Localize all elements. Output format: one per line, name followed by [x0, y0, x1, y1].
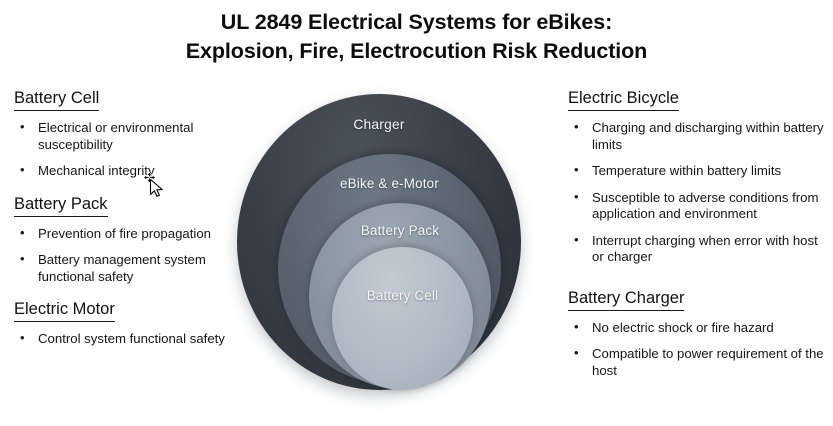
- circle-label-battery-cell: Battery Cell: [332, 288, 473, 303]
- list-item: Mechanical integrity: [16, 163, 242, 180]
- heading-battery-pack: Battery Pack: [14, 194, 108, 217]
- title-line-1: UL 2849 Electrical Systems for eBikes:: [0, 8, 833, 37]
- section-electric-bicycle: Electric Bicycle Charging and dischargin…: [568, 88, 830, 266]
- list-item: Interrupt charging when error with host …: [570, 233, 830, 266]
- nested-circles-diagram: Charger eBike & e-Motor Battery Pack Bat…: [228, 86, 538, 404]
- list-item: Susceptible to adverse conditions from a…: [570, 190, 830, 223]
- heading-battery-charger: Battery Charger: [568, 288, 684, 311]
- list-item: Battery management system functional saf…: [16, 252, 242, 285]
- section-electric-motor: Electric Motor Control system functional…: [14, 299, 242, 348]
- list-item: Charging and discharging within battery …: [570, 120, 830, 153]
- heading-electric-bicycle: Electric Bicycle: [568, 88, 679, 111]
- heading-battery-cell: Battery Cell: [14, 88, 99, 111]
- slide-canvas: UL 2849 Electrical Systems for eBikes: E…: [0, 0, 833, 426]
- circle-label-battery-pack: Battery Pack: [309, 223, 491, 238]
- list-item: No electric shock or fire hazard: [570, 320, 830, 337]
- page-title: UL 2849 Electrical Systems for eBikes: E…: [0, 8, 833, 66]
- list-item: Compatible to power requirement of the h…: [570, 346, 830, 379]
- bullet-list-battery-pack: Prevention of fire propagation Battery m…: [16, 226, 242, 286]
- section-battery-cell: Battery Cell Electrical or environmental…: [14, 88, 242, 180]
- heading-electric-motor: Electric Motor: [14, 299, 115, 322]
- list-item: Temperature within battery limits: [570, 163, 830, 180]
- bullet-list-electric-bicycle: Charging and discharging within battery …: [570, 120, 830, 266]
- title-line-2: Explosion, Fire, Electrocution Risk Redu…: [0, 37, 833, 66]
- circle-battery-cell: Battery Cell: [332, 247, 473, 390]
- right-column: Electric Bicycle Charging and dischargin…: [568, 88, 830, 379]
- section-battery-charger: Battery Charger No electric shock or fir…: [568, 288, 830, 380]
- bullet-list-battery-charger: No electric shock or fire hazard Compati…: [570, 320, 830, 380]
- circle-label-charger: Charger: [237, 117, 521, 132]
- left-column: Battery Cell Electrical or environmental…: [14, 88, 242, 348]
- list-item: Prevention of fire propagation: [16, 226, 242, 243]
- bullet-list-battery-cell: Electrical or environmental susceptibili…: [16, 120, 242, 180]
- list-item: Control system functional safety: [16, 331, 242, 348]
- list-item: Electrical or environmental susceptibili…: [16, 120, 242, 153]
- circle-label-ebike-emotor: eBike & e-Motor: [278, 176, 501, 191]
- bullet-list-electric-motor: Control system functional safety: [16, 331, 242, 348]
- section-battery-pack: Battery Pack Prevention of fire propagat…: [14, 194, 242, 286]
